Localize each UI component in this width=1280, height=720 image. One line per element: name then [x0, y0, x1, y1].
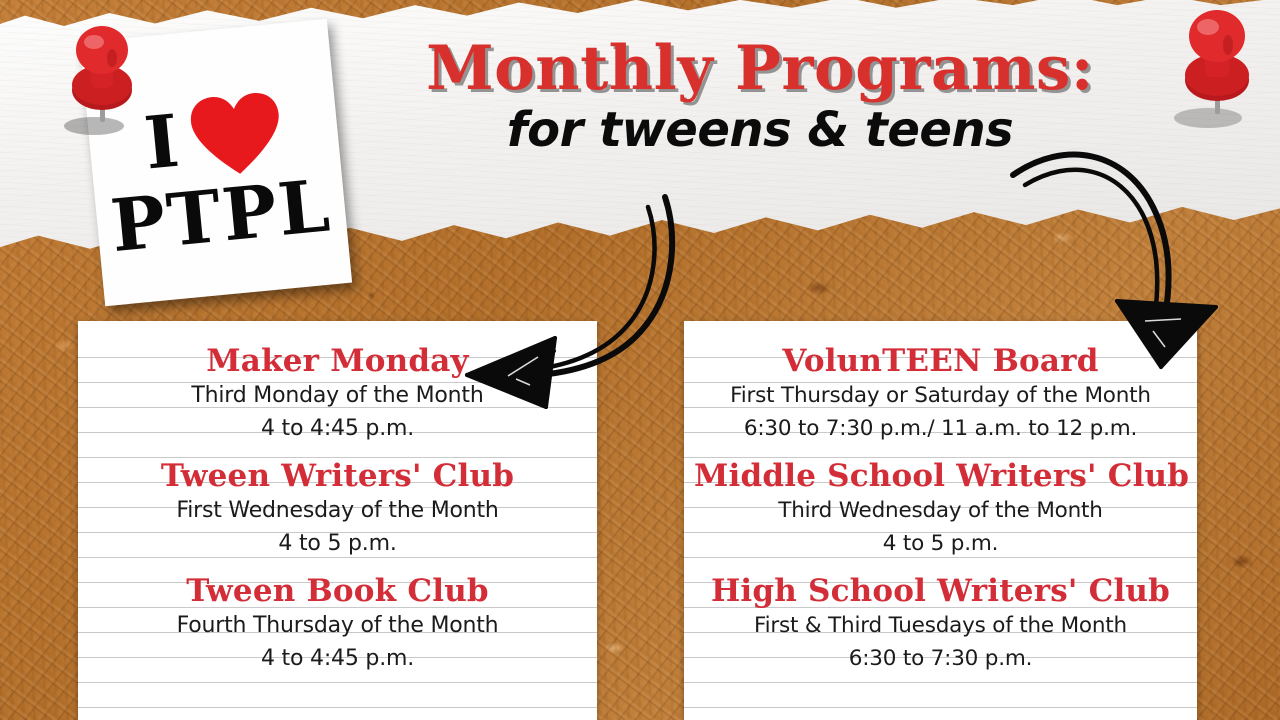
program-schedule: Fourth Thursday of the Month [88, 609, 587, 642]
heart-icon [187, 89, 286, 179]
program-schedule: Third Wednesday of the Month [694, 494, 1187, 527]
page-subtitle: for tweens & teens [330, 105, 1190, 155]
programs-card-left: Maker Monday Third Monday of the Month 4… [78, 321, 597, 720]
program-name: Tween Writers' Club [88, 458, 587, 494]
program-time: 4 to 5 p.m. [88, 527, 587, 560]
program-name: Middle School Writers' Club [694, 458, 1187, 494]
program-entry: Maker Monday Third Monday of the Month 4… [88, 343, 587, 445]
program-entry: High School Writers' Club First & Third … [694, 573, 1187, 675]
program-schedule: First & Third Tuesdays of the Month [694, 609, 1187, 642]
program-name: Maker Monday [88, 343, 587, 379]
programs-list-right: VolunTEEN Board First Thursday or Saturd… [684, 321, 1197, 675]
program-entry: Tween Writers' Club First Wednesday of t… [88, 458, 587, 560]
program-name: High School Writers' Club [694, 573, 1187, 609]
logo-library-initials: PTPL [108, 169, 334, 262]
program-name: VolunTEEN Board [694, 343, 1187, 379]
program-name: Tween Book Club [88, 573, 587, 609]
program-time: 6:30 to 7:30 p.m./ 11 a.m. to 12 p.m. [694, 412, 1187, 445]
program-schedule: First Wednesday of the Month [88, 494, 587, 527]
programs-card-right: VolunTEEN Board First Thursday or Saturd… [684, 321, 1197, 720]
program-time: 4 to 4:45 p.m. [88, 412, 587, 445]
program-entry: VolunTEEN Board First Thursday or Saturd… [694, 343, 1187, 445]
program-entry: Middle School Writers' Club Third Wednes… [694, 458, 1187, 560]
program-entry: Tween Book Club Fourth Thursday of the M… [88, 573, 587, 675]
program-time: 4 to 4:45 p.m. [88, 642, 587, 675]
corkboard-poster: Monthly Programs: for tweens & teens I P… [0, 0, 1280, 720]
program-time: 4 to 5 p.m. [694, 527, 1187, 560]
program-time: 6:30 to 7:30 p.m. [694, 642, 1187, 675]
page-title: Monthly Programs: [330, 38, 1190, 99]
header: Monthly Programs: for tweens & teens [330, 38, 1190, 155]
pushpin-icon [1168, 6, 1272, 134]
program-schedule: First Thursday or Saturday of the Month [694, 379, 1187, 412]
pushpin-icon [58, 22, 154, 140]
program-schedule: Third Monday of the Month [88, 379, 587, 412]
programs-list-left: Maker Monday Third Monday of the Month 4… [78, 321, 597, 675]
